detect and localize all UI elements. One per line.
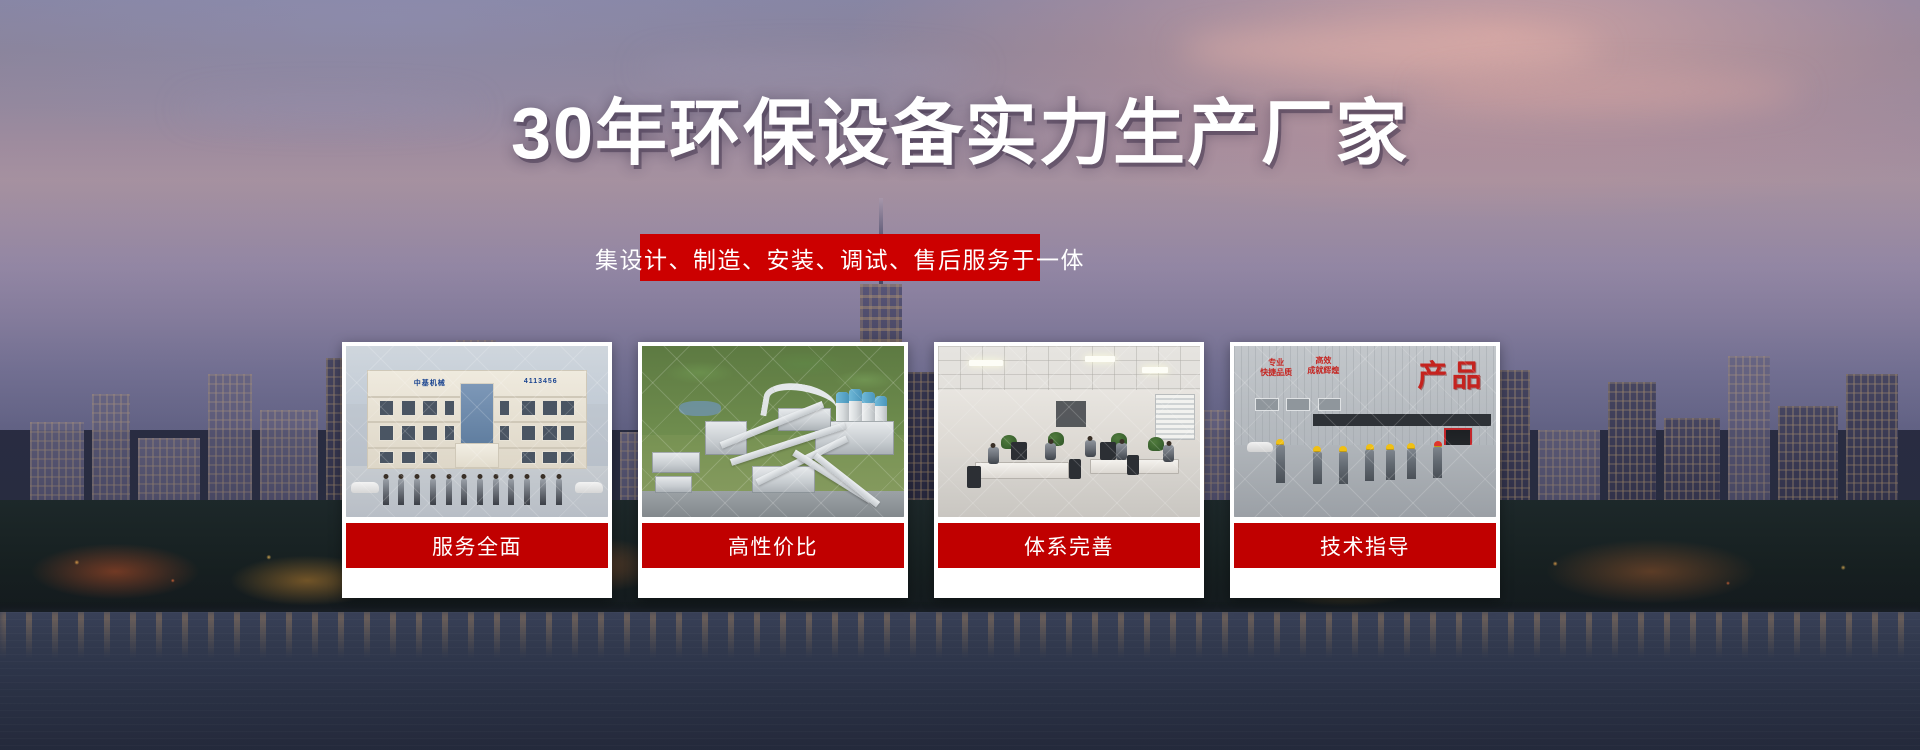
office-interior-staff-photo: [938, 346, 1200, 517]
banner-subtitle-bar: 集设计、制造、安装、调试、售后服务于一体: [640, 234, 1040, 281]
banner-headline: 30年环保设备实力生产厂家: [0, 98, 1920, 170]
feature-card[interactable]: 高性价比: [638, 342, 908, 598]
photo-watermark-overlay: [642, 346, 904, 517]
factory-workers-photo: 产品 专业 快捷品质 高效 成就辉煌: [1234, 346, 1496, 517]
feature-card-label: 服务全面: [346, 523, 608, 568]
feature-card-label: 技术指导: [1234, 523, 1496, 568]
feature-card[interactable]: 产品 专业 快捷品质 高效 成就辉煌: [1230, 342, 1500, 598]
photo-watermark-overlay: [938, 346, 1200, 517]
hero-banner: 30年环保设备实力生产厂家 集设计、制造、安装、调试、售后服务于一体: [0, 0, 1920, 750]
aerial-industrial-plant-photo: [642, 346, 904, 517]
banner-content: 30年环保设备实力生产厂家 集设计、制造、安装、调试、售后服务于一体: [0, 0, 1920, 750]
banner-subtitle-text: 集设计、制造、安装、调试、售后服务于一体: [595, 241, 1085, 275]
company-office-building-photo: 中基机械 4113456: [346, 346, 608, 517]
feature-card-label: 高性价比: [642, 523, 904, 568]
photo-watermark-overlay: [346, 346, 608, 517]
photo-watermark-overlay: [1234, 346, 1496, 517]
feature-card[interactable]: 中基机械 4113456: [342, 342, 612, 598]
feature-card-list: 中基机械 4113456: [342, 342, 1576, 598]
feature-card[interactable]: 体系完善: [934, 342, 1204, 598]
feature-card-label: 体系完善: [938, 523, 1200, 568]
